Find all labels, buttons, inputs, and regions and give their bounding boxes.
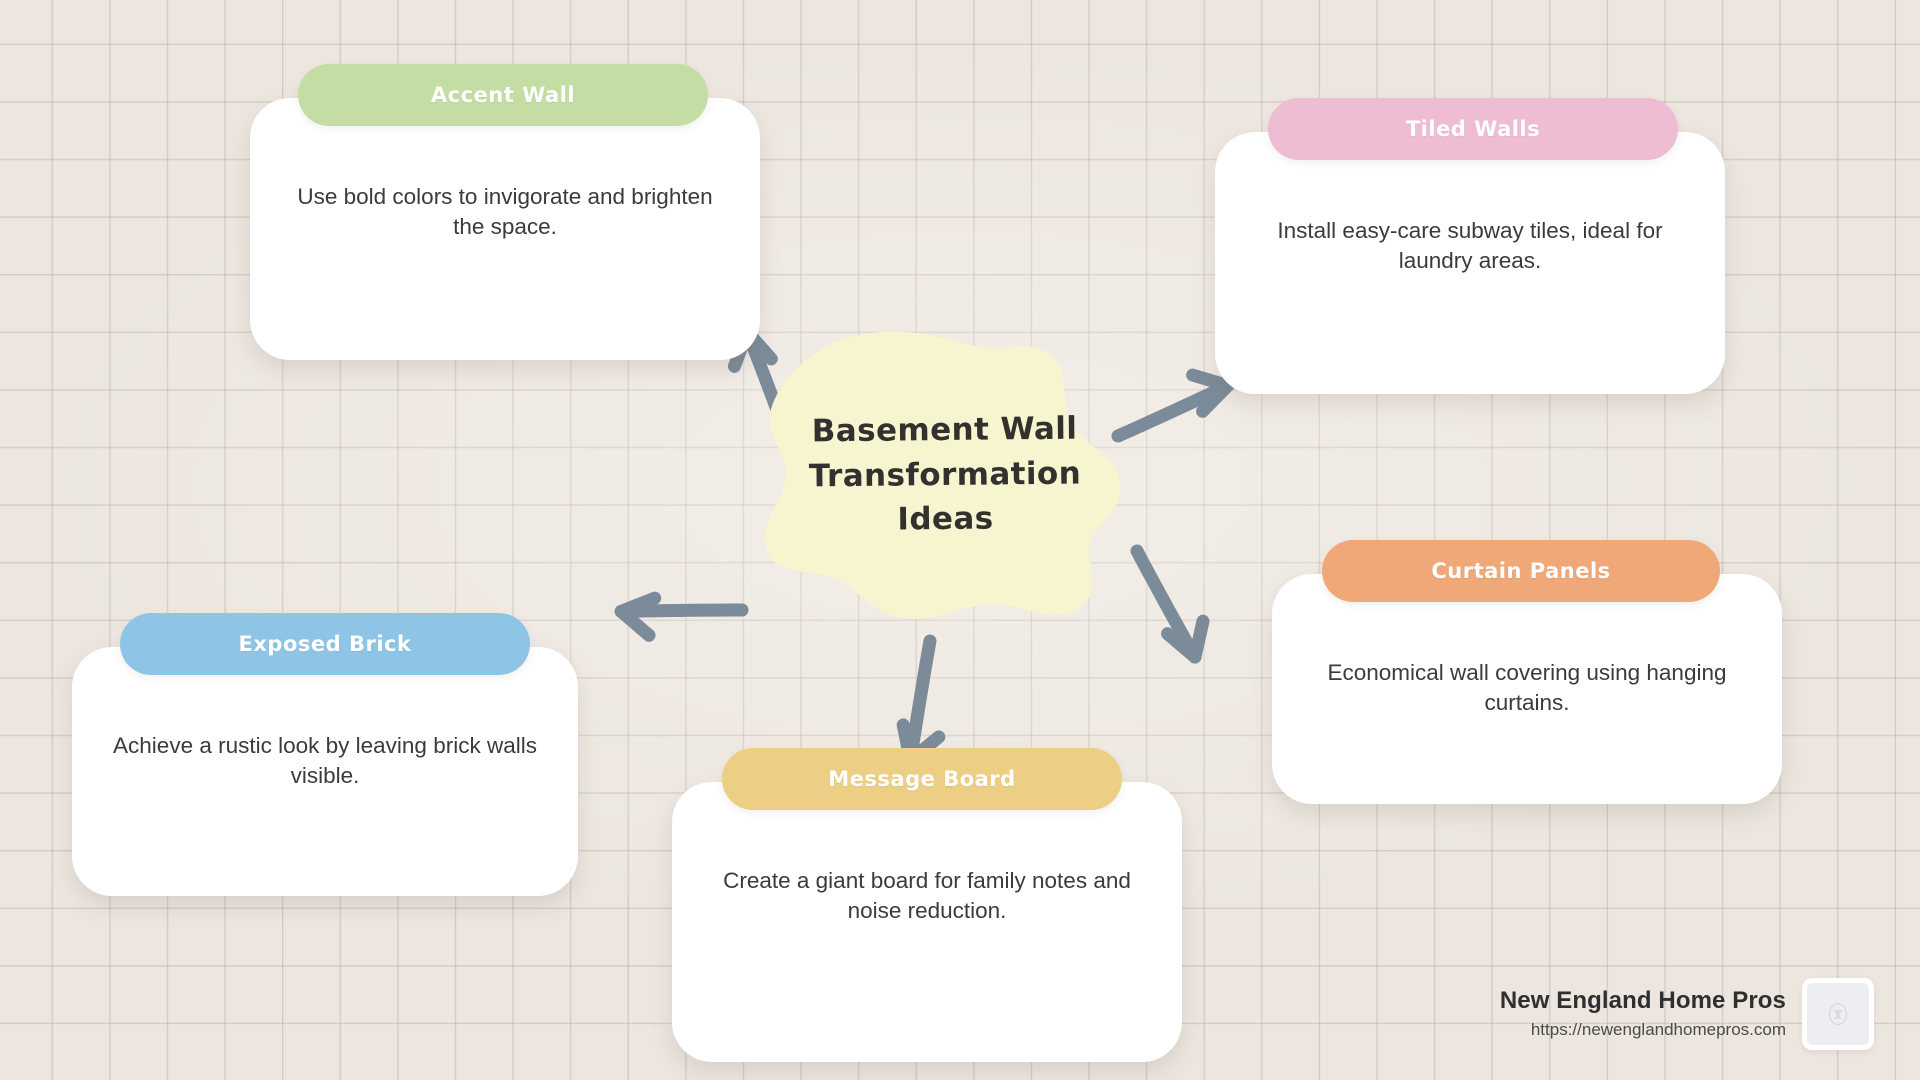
- node-tiled-walls-title: Tiled Walls: [1406, 117, 1540, 141]
- node-accent-wall-card: Use bold colors to invigorate and bright…: [250, 98, 760, 360]
- node-exposed-brick-title: Exposed Brick: [239, 632, 412, 656]
- node-curtain-panels-title: Curtain Panels: [1431, 559, 1610, 583]
- arrow-to-exposed-brick-icon: [621, 571, 742, 649]
- node-accent-wall-title: Accent Wall: [431, 83, 575, 107]
- node-curtain-panels-header[interactable]: Curtain Panels: [1322, 540, 1720, 602]
- brand-name: New England Home Pros: [1500, 986, 1786, 1016]
- center-title-line-2: Transformation: [809, 451, 1082, 499]
- branding: New England Home Pros https://newengland…: [1500, 978, 1874, 1050]
- placeholder-logo-icon: [1807, 983, 1869, 1045]
- center-title-line-1: Basement Wall: [812, 406, 1078, 454]
- brand-url[interactable]: https://newenglandhomepros.com: [1500, 1018, 1786, 1042]
- center-title-line-3: Ideas: [897, 497, 994, 543]
- center-title: Basement Wall Transformation Ideas: [758, 328, 1131, 622]
- node-message-board-header[interactable]: Message Board: [722, 748, 1122, 810]
- node-exposed-brick-header[interactable]: Exposed Brick: [120, 613, 530, 675]
- arrow-to-tiled-walls-icon: [1118, 357, 1228, 466]
- branding-text: New England Home Pros https://newengland…: [1500, 986, 1786, 1042]
- node-accent-wall-header[interactable]: Accent Wall: [298, 64, 708, 126]
- node-message-board-card: Create a giant board for family notes an…: [672, 782, 1182, 1062]
- center-node: Basement Wall Transformation Ideas: [760, 330, 1130, 620]
- node-tiled-walls-header[interactable]: Tiled Walls: [1268, 98, 1678, 160]
- node-message-board-title: Message Board: [828, 767, 1015, 791]
- node-exposed-brick-card: Achieve a rustic look by leaving brick w…: [72, 647, 578, 896]
- node-tiled-walls-card: Install easy-care subway tiles, ideal fo…: [1215, 132, 1725, 394]
- brand-logo: [1802, 978, 1874, 1050]
- arrow-to-message-board-icon: [890, 641, 950, 760]
- infographic-canvas: Basement Wall Transformation Ideas Use b…: [0, 0, 1920, 1080]
- node-curtain-panels-card: Economical wall covering using hanging c…: [1272, 574, 1782, 804]
- placeholder-logo-glyph: [1823, 999, 1853, 1029]
